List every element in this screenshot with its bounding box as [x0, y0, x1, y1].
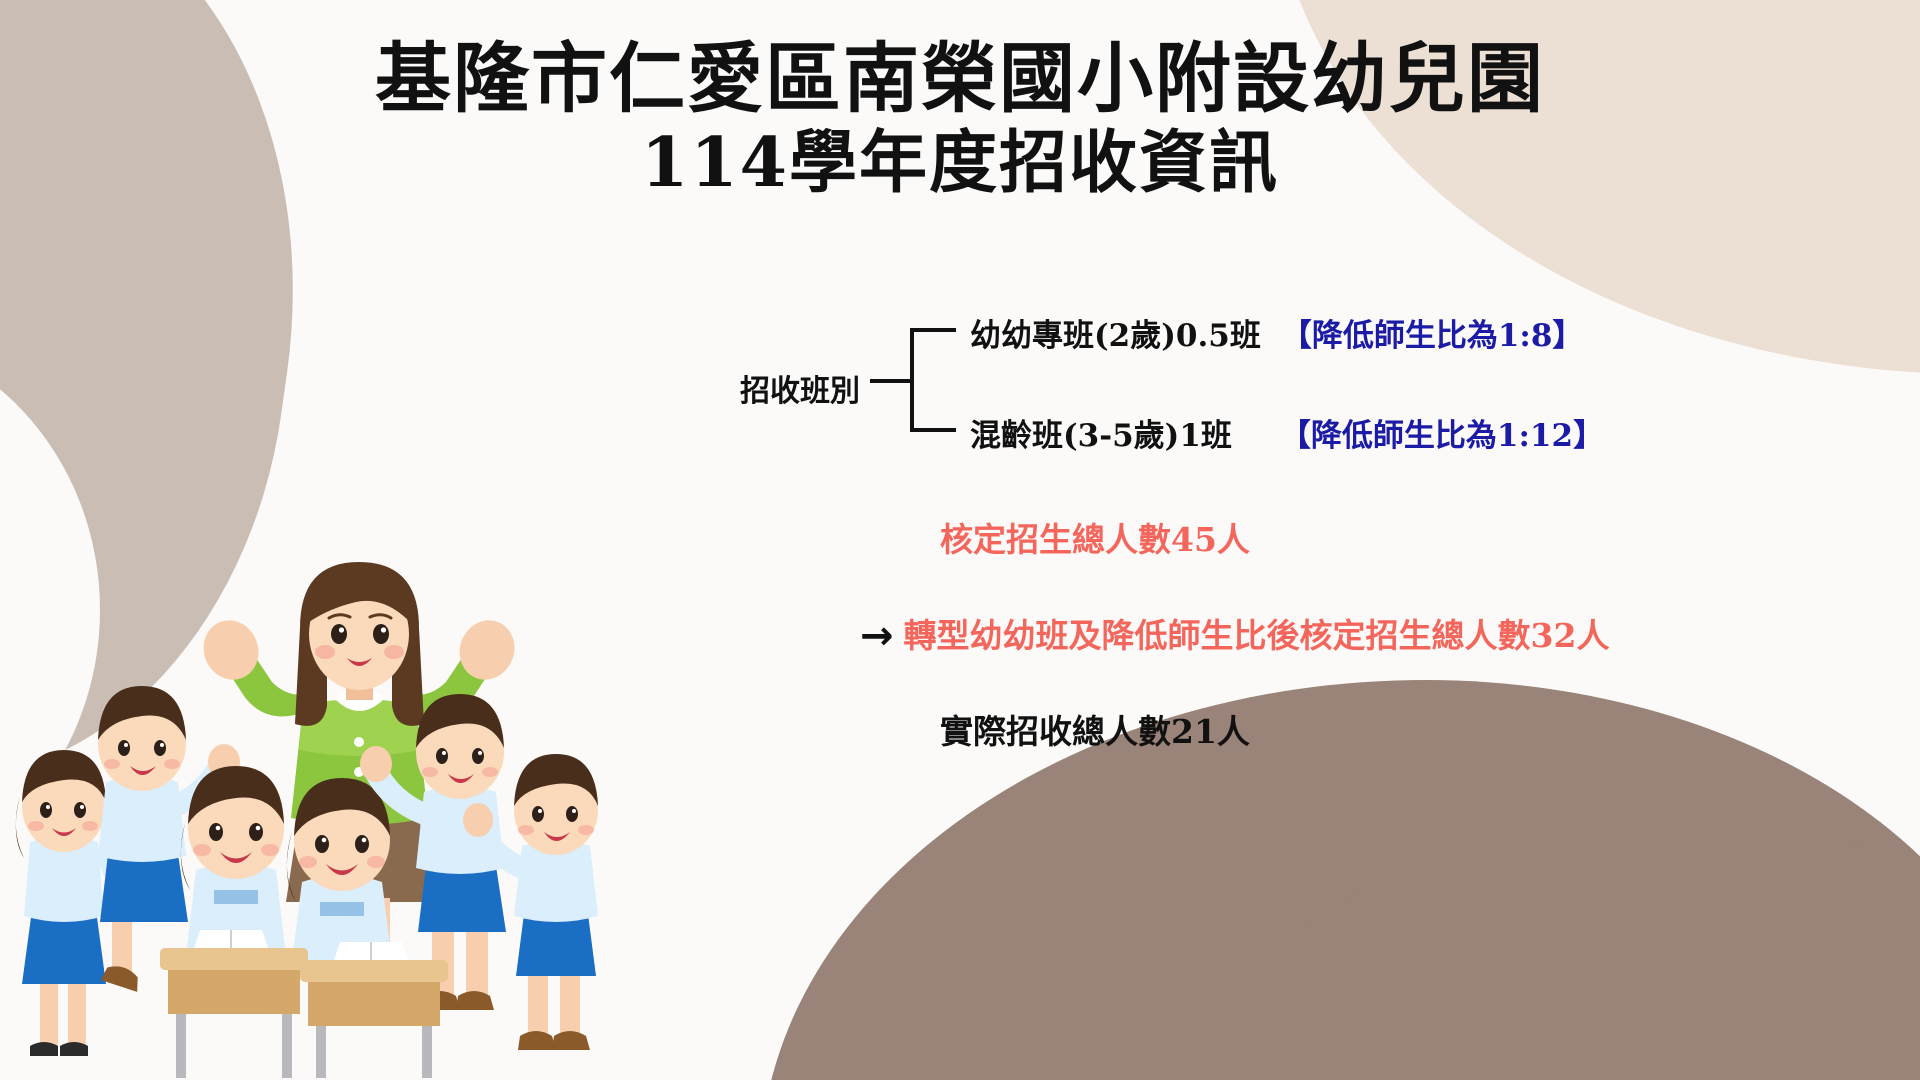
class-bracket-diagram: 招收班別 幼幼專班(2歲)0.5班 【降低師生比為1:8】 混齡班(3-5歲)1…	[670, 318, 1870, 468]
bracket-stem	[870, 379, 912, 383]
bracket-spine	[910, 328, 914, 432]
title-line-year: 114學年度招收資訊	[0, 122, 1920, 204]
desk-left	[160, 930, 308, 1078]
class-ratio-note-mixed-age: 【降低師生比為1:12】	[1280, 410, 1604, 455]
class-name-toddler: 幼幼專班(2歲)0.5班	[970, 310, 1261, 355]
teacher-and-children-illustration	[0, 510, 740, 1080]
title-line-school: 基隆市仁愛區南榮國小附設幼兒園	[0, 36, 1920, 122]
bracket-arm-bottom	[910, 428, 956, 432]
stat-row-approved-total: 核定招生總人數45人	[940, 520, 1250, 560]
stat-text-approved-total: 核定招生總人數45人	[940, 520, 1250, 560]
poster-canvas: 基隆市仁愛區南榮國小附設幼兒園 114學年度招收資訊 招收班別 幼幼專班(2歲)…	[0, 0, 1920, 1080]
class-ratio-note-toddler: 【降低師生比為1:8】	[1281, 310, 1584, 355]
decorative-blob-bottom-right-secondary	[1220, 820, 1920, 1080]
bracket-arm-top	[910, 328, 956, 332]
class-row: 幼幼專班(2歲)0.5班 【降低師生比為1:8】	[970, 310, 1583, 355]
page-title: 基隆市仁愛區南榮國小附設幼兒園 114學年度招收資訊	[0, 36, 1920, 204]
class-name-mixed-age: 混齡班(3-5歲)1班	[970, 410, 1232, 455]
decorative-blob-bottom-right	[760, 680, 1920, 1080]
class-category-label: 招收班別	[670, 366, 860, 410]
stat-row-adjusted-total: → 轉型幼幼班及降低師生比後核定招生總人數32人	[860, 616, 1609, 656]
stat-text-adjusted-total: 轉型幼幼班及降低師生比後核定招生總人數32人	[904, 616, 1610, 656]
stat-text-actual-total: 實際招收總人數21人	[940, 712, 1250, 752]
desk-right	[300, 942, 448, 1078]
arrow-right-icon: →	[860, 616, 894, 656]
class-row: 混齡班(3-5歲)1班 【降低師生比為1:12】	[970, 410, 1604, 455]
stat-row-actual-total: 實際招收總人數21人	[940, 712, 1250, 752]
